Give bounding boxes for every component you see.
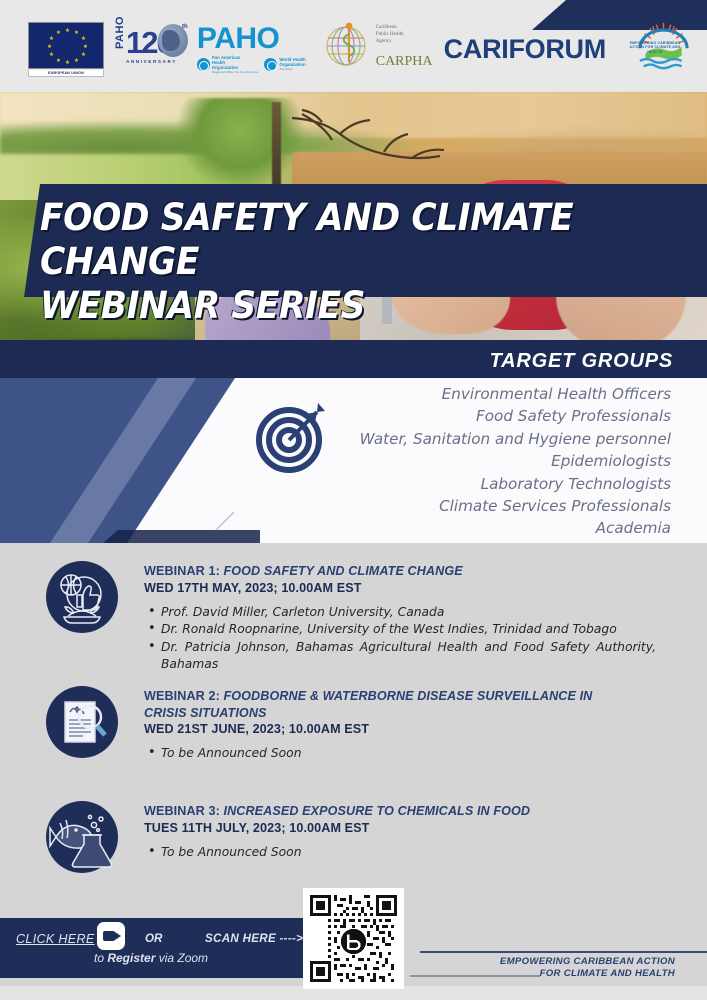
qr-code-image	[310, 895, 397, 982]
ccach-tag-l2: ACTION FOR CLIMATE AND HEALTH	[630, 45, 681, 53]
target-groups-list: Environmental Health Officers Food Safet…	[360, 383, 671, 540]
hero-photo-field-drought	[0, 92, 707, 200]
paho-logo: PAHO Pan American Health Organization Re…	[197, 24, 306, 75]
webinar-item-2: WEBINAR 2: FOODBORNE & WATERBORNE DISEAS…	[0, 686, 707, 763]
click-here-link[interactable]: CLICK HERE	[16, 932, 95, 946]
paho-120-anniversary-logo: PAHO 120 th ANNIVERSARY	[114, 21, 183, 77]
webinar-item-3: WEBINAR 3: INCREASED EXPOSURE TO CHEMICA…	[0, 801, 707, 873]
list-item: Food Safety Professionals	[360, 405, 671, 427]
camera-glyph	[103, 931, 115, 941]
webinar3-label: WEBINAR 3:	[144, 804, 223, 818]
webinar3-date: TUES 11TH JULY, 2023; 10.00AM EST	[144, 820, 530, 837]
register-suffix: via Zoom	[155, 951, 208, 965]
register-prefix: to	[94, 951, 107, 965]
webinar1-glyph	[46, 561, 118, 633]
cariforum-logo: CARIFORUM	[444, 34, 606, 65]
carpha-l1: Caribbean	[376, 24, 397, 30]
footer-tagline-l2: FOR CLIMATE AND HEALTH	[500, 968, 675, 980]
target-groups-title: TARGET GROUPS	[490, 350, 673, 373]
ccach-tagline: EMPOWERING CARIBBEAN ACTION FOR CLIMATE …	[624, 41, 686, 54]
webinar2-glyph	[46, 686, 118, 758]
paho-org-l4: Regional Office for the Americas	[212, 70, 258, 75]
paho-wordmark: PAHO	[197, 24, 306, 54]
eu-stars: ★ ★ ★ ★ ★ ★ ★ ★ ★ ★ ★ ★	[29, 23, 103, 68]
footer-cta-band	[0, 918, 310, 978]
world-health-org: World Health Organization Americas	[264, 55, 305, 75]
document-magnifier-icon	[46, 686, 118, 758]
carpha-l3: Agency	[376, 38, 392, 44]
list-item: Environmental Health Officers	[360, 383, 671, 405]
video-camera-icon[interactable]	[97, 922, 125, 950]
register-via-zoom-label: to Register via Zoom	[94, 951, 208, 965]
carpha-l2: Public Health	[376, 31, 404, 37]
page-title: FOOD SAFETY AND CLIMATE CHANGE WEBINAR S…	[40, 196, 660, 328]
footer-tagline: EMPOWERING CARIBBEAN ACTION FOR CLIMATE …	[500, 956, 675, 979]
webinar1-topic: FOOD SAFETY AND CLIMATE CHANGE	[223, 564, 462, 578]
webinar1-label: WEBINAR 1:	[144, 564, 223, 578]
who-org-l3: Americas	[279, 67, 305, 72]
footer-tagline-l1: EMPOWERING CARIBBEAN ACTION	[500, 956, 675, 968]
list-item: Academia	[360, 517, 671, 539]
hero-green-tree	[175, 98, 305, 190]
list-item: To be Announced Soon	[144, 844, 530, 862]
eu-flag: ★ ★ ★ ★ ★ ★ ★ ★ ★ ★ ★ ★	[28, 22, 104, 69]
who-org-text: World Health Organization Americas	[279, 57, 305, 72]
ccach-logo: EMPOWERING CARIBBEAN ACTION FOR CLIMATE …	[620, 21, 707, 77]
list-item: Climate Services Professionals	[360, 495, 671, 517]
webinar3-topic: INCREASED EXPOSURE TO CHEMICALS IN FOOD	[223, 804, 530, 818]
carpha-logo: Caribbean Public Health Agency CARPHA	[324, 20, 422, 78]
scan-here-label: SCAN HERE ---->	[205, 932, 303, 945]
carpha-descriptor: Caribbean Public Health Agency	[376, 24, 404, 45]
european-union-logo: ★ ★ ★ ★ ★ ★ ★ ★ ★ ★ ★ ★ EUROPEAN UNION	[28, 22, 104, 77]
list-item: To be Announced Soon	[144, 745, 614, 763]
webinar2-date: WED 21ST JUNE, 2023; 10.00AM EST	[144, 721, 614, 738]
paho-org-l3: Organization	[212, 65, 238, 70]
list-item: Dr. Ronald Roopnarine, University of the…	[144, 621, 656, 639]
webinar3-heading: WEBINAR 3: INCREASED EXPOSURE TO CHEMICA…	[144, 803, 530, 820]
eu-caption: EUROPEAN UNION	[28, 70, 104, 77]
webinar2-text: WEBINAR 2: FOODBORNE & WATERBORNE DISEAS…	[144, 686, 614, 763]
list-item: Water, Sanitation and Hygiene personnel	[360, 428, 671, 450]
pan-american-health-org: Pan American Health Organization Regiona…	[197, 55, 258, 75]
paho-org-text: Pan American Health Organization Regiona…	[212, 55, 258, 75]
food-thumbs-up-globe-icon	[46, 561, 118, 633]
webinar-item-1: WEBINAR 1: FOOD SAFETY AND CLIMATE CHANG…	[0, 561, 707, 674]
paho-sublogos: Pan American Health Organization Regiona…	[197, 55, 306, 75]
paho-seal-icon	[197, 58, 210, 71]
list-item: Dr. Patricia Johnson, Bahamas Agricultur…	[144, 639, 656, 674]
footer-or-label: OR	[145, 932, 162, 945]
webinar3-speakers: To be Announced Soon	[144, 844, 530, 862]
hero-dead-branches	[292, 106, 472, 176]
poster-root: ★ ★ ★ ★ ★ ★ ★ ★ ★ ★ ★ ★ EUROPEAN UNION	[0, 0, 707, 1000]
webinar1-heading: WEBINAR 1: FOOD SAFETY AND CLIMATE CHANG…	[144, 563, 656, 580]
list-item: Laboratory Technologists	[360, 473, 671, 495]
who-seal-icon	[264, 58, 277, 71]
ccach-tag-l1: EMPOWERING CARIBBEAN	[630, 41, 681, 45]
target-bullseye-icon	[255, 400, 329, 474]
paho120-vertical-text: PAHO	[114, 16, 126, 49]
carpha-caduceus-globe-icon	[324, 22, 374, 68]
webinar1-text: WEBINAR 1: FOOD SAFETY AND CLIMATE CHANG…	[144, 561, 656, 674]
webinar3-glyph	[46, 801, 118, 873]
decorative-slash-icon	[208, 510, 238, 532]
webinar2-heading: WEBINAR 2: FOODBORNE & WATERBORNE DISEAS…	[144, 688, 614, 721]
paho120-superscript: th	[182, 24, 188, 30]
register-bold: Register	[107, 951, 155, 965]
webinar2-speakers: To be Announced Soon	[144, 745, 614, 763]
webinar1-date: WED 17TH MAY, 2023; 10.00AM EST	[144, 580, 656, 597]
list-item: Epidemiologists	[360, 450, 671, 472]
logo-row: ★ ★ ★ ★ ★ ★ ★ ★ ★ ★ ★ ★ EUROPEAN UNION	[0, 18, 707, 80]
fish-flask-chemicals-icon	[46, 801, 118, 873]
carpha-acronym: CARPHA	[376, 54, 433, 70]
paho120-anniversary-text: ANNIVERSARY	[126, 59, 177, 64]
webinar2-label: WEBINAR 2:	[144, 689, 223, 703]
footer-divider-line-1	[420, 951, 707, 953]
list-item: Prof. David Miller, Carleton University,…	[144, 604, 656, 622]
header-bar: ★ ★ ★ ★ ★ ★ ★ ★ ★ ★ ★ ★ EUROPEAN UNION	[0, 0, 707, 92]
qr-code[interactable]	[303, 888, 404, 989]
webinar1-speakers: Prof. David Miller, Carleton University,…	[144, 604, 656, 674]
webinar3-text: WEBINAR 3: INCREASED EXPOSURE TO CHEMICA…	[144, 801, 530, 873]
